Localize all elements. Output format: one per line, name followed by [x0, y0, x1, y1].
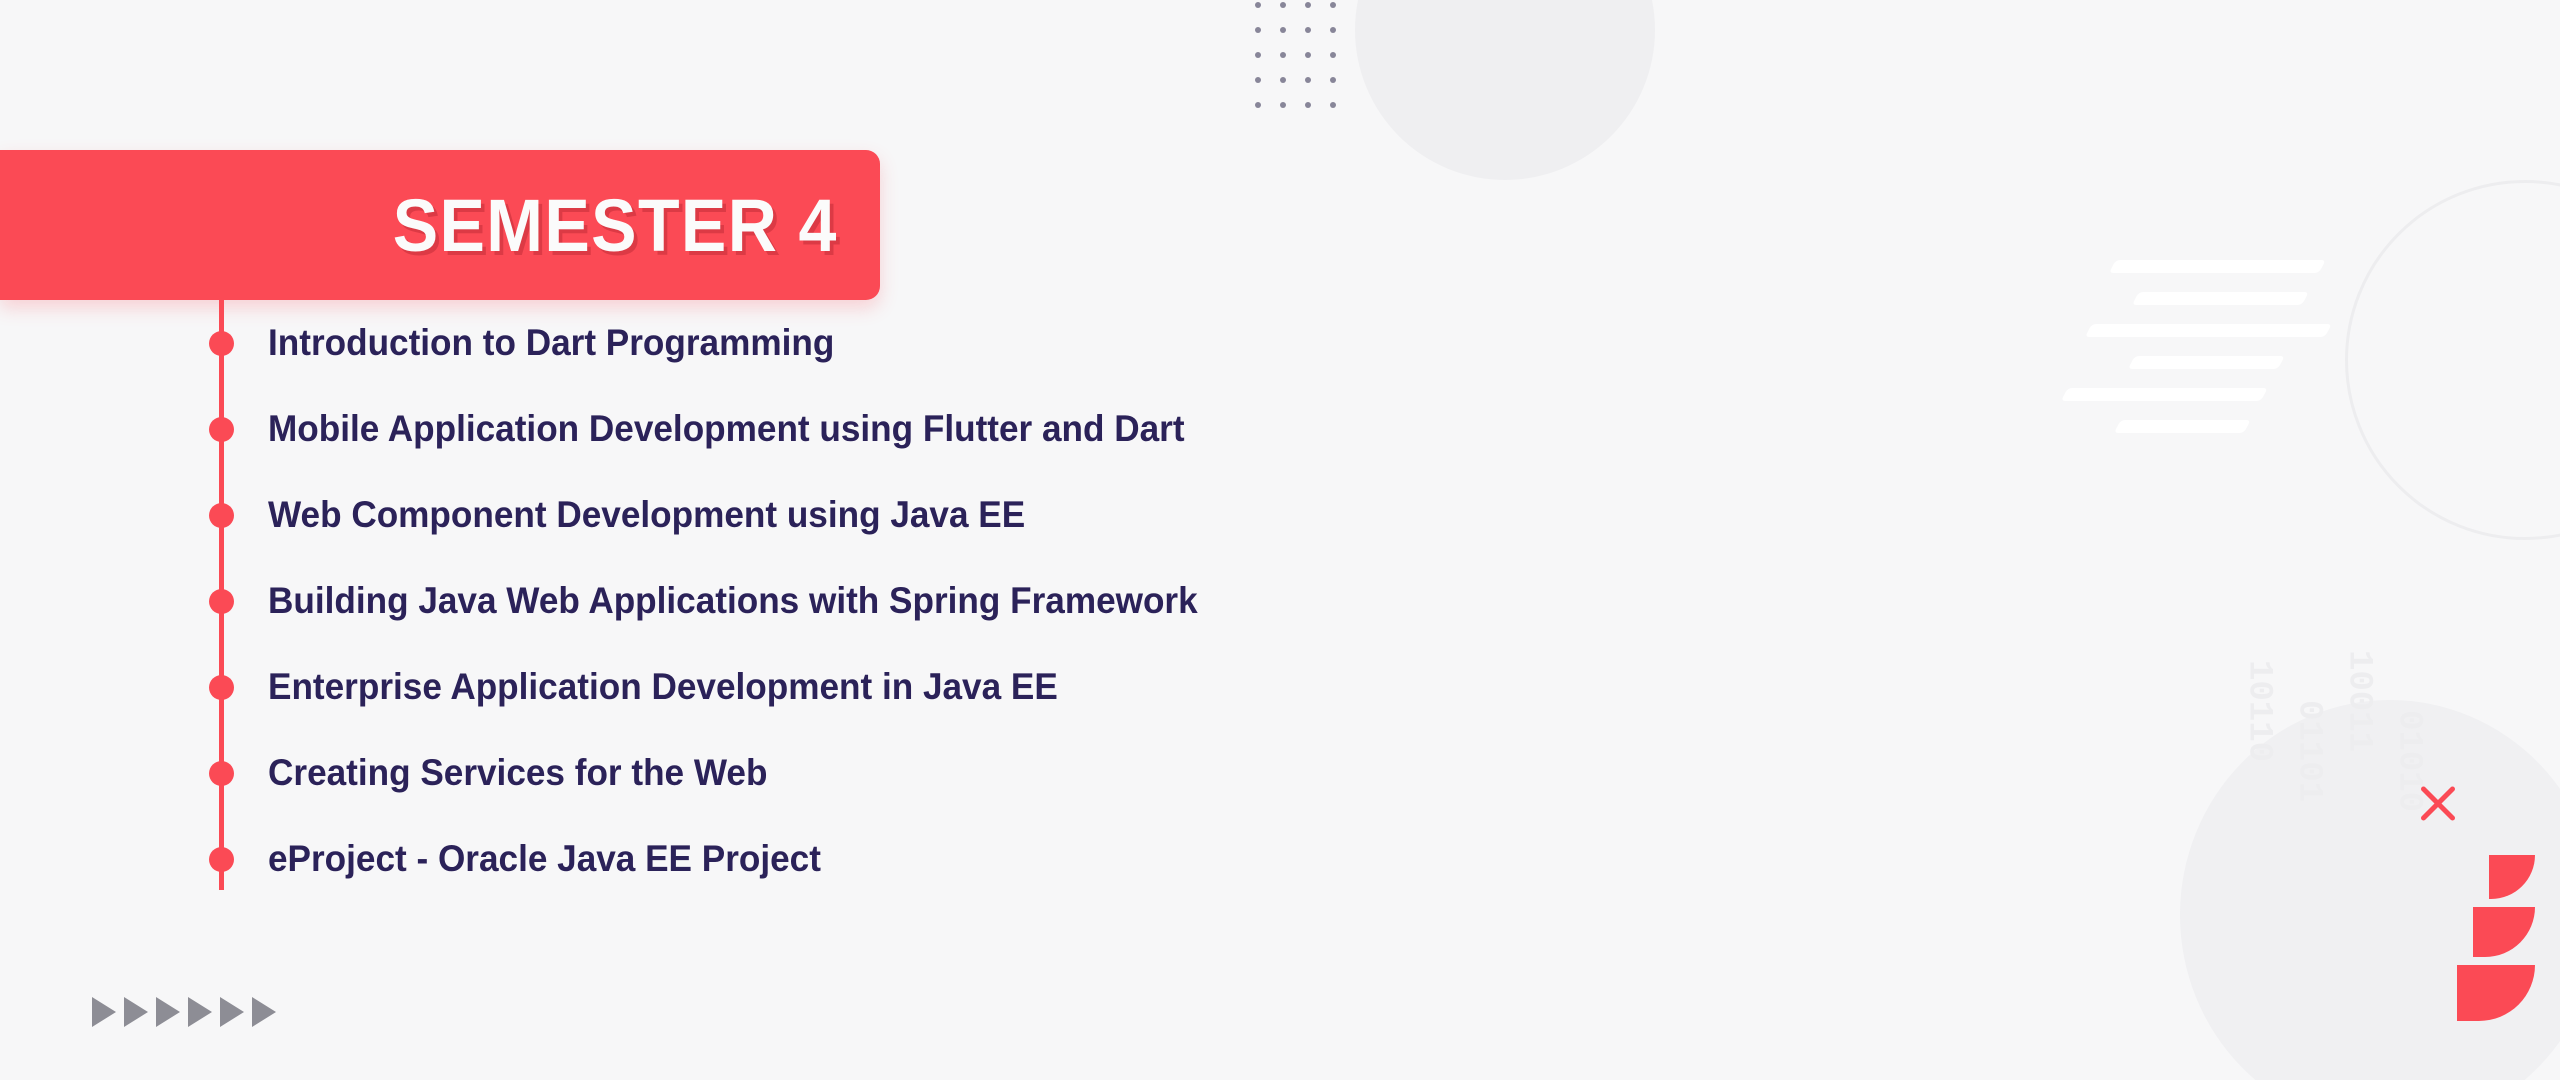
list-item-label: Mobile Application Development using Flu…: [268, 408, 1185, 450]
list-item-label: Web Component Development using Java EE: [268, 494, 1025, 536]
play-arrows-decoration: [92, 997, 276, 1027]
timeline-dot-icon: [209, 589, 234, 614]
timeline-dot-icon: [209, 417, 234, 442]
play-arrow-icon: [220, 997, 244, 1027]
list-item-label: Creating Services for the Web: [268, 752, 767, 794]
timeline-dot-icon: [209, 847, 234, 872]
play-arrow-icon: [92, 997, 116, 1027]
timeline-dot-icon: [209, 675, 234, 700]
play-arrow-icon: [156, 997, 180, 1027]
list-item-label: Building Java Web Applications with Spri…: [268, 580, 1198, 622]
play-arrow-icon: [188, 997, 212, 1027]
play-arrow-icon: [124, 997, 148, 1027]
timeline-dot-icon: [209, 331, 234, 356]
timeline-dot-icon: [209, 761, 234, 786]
timeline-dot-icon: [209, 503, 234, 528]
semester-title-banner: SEMESTER 4: [0, 150, 880, 300]
page-title: SEMESTER 4: [393, 183, 838, 268]
list-item-label: Enterprise Application Development in Ja…: [268, 666, 1058, 708]
list-item-label: Introduction to Dart Programming: [268, 322, 834, 364]
syllabus-timeline: Introduction to Dart Programming Mobile …: [0, 300, 1200, 920]
dot-grid-decoration: [1245, 0, 1345, 117]
play-arrow-icon: [252, 997, 276, 1027]
developer-illustration: JAVA CSS PHP </>: [1560, 0, 2560, 1080]
list-item-label: eProject - Oracle Java EE Project: [268, 838, 821, 880]
